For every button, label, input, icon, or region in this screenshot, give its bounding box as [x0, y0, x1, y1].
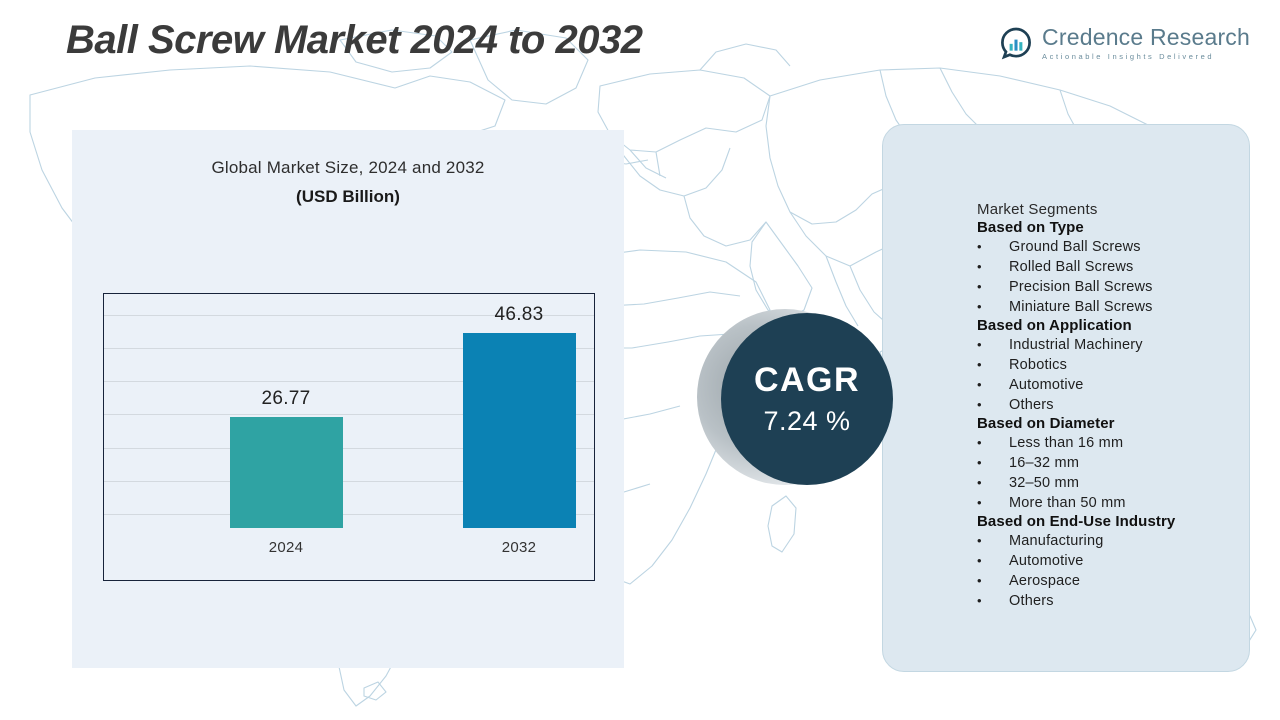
- segment-list-item: •Less than 16 mm: [977, 433, 1239, 453]
- bullet-icon: •: [977, 375, 1009, 394]
- bullet-icon: •: [977, 277, 1009, 296]
- bullet-icon: •: [977, 531, 1009, 550]
- page-title: Ball Screw Market 2024 to 2032: [66, 18, 642, 63]
- segment-list-item: •Precision Ball Screws: [977, 277, 1239, 297]
- bullet-icon: •: [977, 493, 1009, 512]
- cagr-value: 7.24 %: [763, 406, 850, 437]
- segment-item-label: Others: [1009, 396, 1054, 415]
- segment-list-item: •Manufacturing: [977, 531, 1239, 551]
- chart-heading-line2: (USD Billion): [72, 187, 624, 207]
- brand-tagline: Actionable Insights Delivered: [1042, 53, 1250, 61]
- segment-list-item: •Ground Ball Screws: [977, 237, 1239, 257]
- segment-item-label: Industrial Machinery: [1009, 336, 1143, 355]
- bullet-icon: •: [977, 355, 1009, 374]
- chart-bars-area: [104, 294, 594, 528]
- segment-list-item: •Aerospace: [977, 571, 1239, 591]
- chart-bar-value-label: 26.77: [216, 388, 356, 410]
- segment-item-label: 16–32 mm: [1009, 454, 1079, 473]
- chart-bar-value-label: 46.83: [449, 304, 589, 326]
- bar-chart-bubble-logo-icon: [999, 26, 1033, 60]
- brand-name: Credence Research: [1042, 26, 1250, 49]
- segment-group-title: Based on Application: [977, 317, 1239, 334]
- cagr-badge: CAGR 7.24 %: [697, 309, 897, 489]
- bullet-icon: •: [977, 433, 1009, 452]
- chart-category-label: 2032: [449, 539, 589, 556]
- market-segments-caption: Market Segments: [977, 201, 1239, 218]
- segment-list-item: •Others: [977, 591, 1239, 611]
- market-size-chart-panel: Global Market Size, 2024 and 2032 (USD B…: [72, 130, 624, 668]
- segment-group-title: Based on Type: [977, 219, 1239, 236]
- segment-item-label: Others: [1009, 592, 1054, 611]
- segment-item-label: Automotive: [1009, 552, 1084, 571]
- bar-chart-plot: 26.77202446.832032: [103, 293, 595, 581]
- segment-list-item: •Automotive: [977, 375, 1239, 395]
- chart-category-label: 2024: [216, 539, 356, 556]
- segment-list-item: •16–32 mm: [977, 453, 1239, 473]
- chart-heading: Global Market Size, 2024 and 2032 (USD B…: [72, 158, 624, 207]
- bullet-icon: •: [977, 473, 1009, 492]
- bullet-icon: •: [977, 237, 1009, 256]
- bullet-icon: •: [977, 453, 1009, 472]
- cagr-circle: CAGR 7.24 %: [721, 313, 893, 485]
- segment-item-label: Robotics: [1009, 356, 1067, 375]
- market-segments-list: Market Segments Based on Type•Ground Bal…: [977, 201, 1239, 611]
- segment-item-label: More than 50 mm: [1009, 494, 1126, 513]
- chart-bar: [230, 417, 343, 528]
- segment-item-label: 32–50 mm: [1009, 474, 1079, 493]
- chart-heading-line1: Global Market Size, 2024 and 2032: [72, 158, 624, 178]
- bullet-icon: •: [977, 591, 1009, 610]
- segment-item-label: Precision Ball Screws: [1009, 278, 1153, 297]
- segment-item-label: Miniature Ball Screws: [1009, 298, 1153, 317]
- segment-list-item: •Robotics: [977, 355, 1239, 375]
- chart-bar: [463, 333, 576, 528]
- segment-item-label: Rolled Ball Screws: [1009, 258, 1133, 277]
- segment-item-label: Ground Ball Screws: [1009, 238, 1141, 257]
- segment-group-title: Based on Diameter: [977, 415, 1239, 432]
- bullet-icon: •: [977, 395, 1009, 414]
- cagr-label: CAGR: [754, 361, 860, 400]
- bullet-icon: •: [977, 571, 1009, 590]
- segment-item-label: Manufacturing: [1009, 532, 1104, 551]
- segment-list-item: •Miniature Ball Screws: [977, 297, 1239, 317]
- segment-list-item: •Rolled Ball Screws: [977, 257, 1239, 277]
- bullet-icon: •: [977, 257, 1009, 276]
- segment-group-title: Based on End-Use Industry: [977, 513, 1239, 530]
- bullet-icon: •: [977, 551, 1009, 570]
- segment-list-item: •32–50 mm: [977, 473, 1239, 493]
- segment-item-label: Aerospace: [1009, 572, 1080, 591]
- market-segments-panel: Market Segments Based on Type•Ground Bal…: [882, 124, 1250, 672]
- bullet-icon: •: [977, 297, 1009, 316]
- segment-list-item: •Automotive: [977, 551, 1239, 571]
- segment-item-label: Less than 16 mm: [1009, 434, 1123, 453]
- segment-list-item: •Industrial Machinery: [977, 335, 1239, 355]
- segment-list-item: •Others: [977, 395, 1239, 415]
- segment-item-label: Automotive: [1009, 376, 1084, 395]
- segment-list-item: •More than 50 mm: [977, 493, 1239, 513]
- bullet-icon: •: [977, 335, 1009, 354]
- brand-logo: Credence Research Actionable Insights De…: [999, 26, 1250, 61]
